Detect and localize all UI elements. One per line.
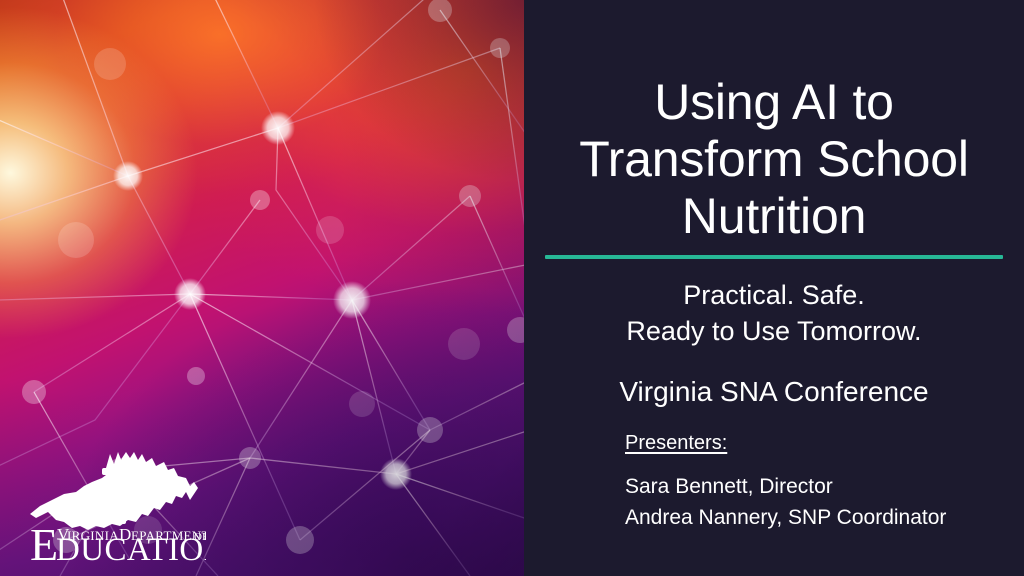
logo-dropcap: E bbox=[30, 519, 58, 566]
page-title: Using AI to Transform School Nutrition bbox=[534, 74, 1014, 245]
presenters-label: Presenters: bbox=[625, 430, 727, 456]
presenters-block: Presenters: Sara Bennett, Director Andre… bbox=[625, 430, 1015, 533]
slide-text-panel: Using AI to Transform School Nutrition P… bbox=[524, 0, 1024, 576]
presenter-item: Sara Bennett, Director bbox=[625, 471, 1015, 502]
virginia-department-of-education-logo: E V IRGINIA D EPARTMENT OF DUCATION bbox=[18, 448, 206, 566]
presenter-item: Andrea Nannery, SNP Coordinator bbox=[625, 502, 1015, 533]
presentation-slide: E V IRGINIA D EPARTMENT OF DUCATION Usin… bbox=[0, 0, 1024, 576]
title-divider bbox=[545, 255, 1003, 259]
slide-subtitle: Practical. Safe. Ready to Use Tomorrow. bbox=[534, 277, 1014, 349]
title-slide-artwork: E V IRGINIA D EPARTMENT OF DUCATION bbox=[0, 0, 524, 576]
conference-name: Virginia SNA Conference bbox=[534, 375, 1014, 409]
logo-line2: DUCATION bbox=[56, 532, 206, 566]
logo-wordmark: E V IRGINIA D EPARTMENT OF DUCATION bbox=[30, 519, 206, 566]
